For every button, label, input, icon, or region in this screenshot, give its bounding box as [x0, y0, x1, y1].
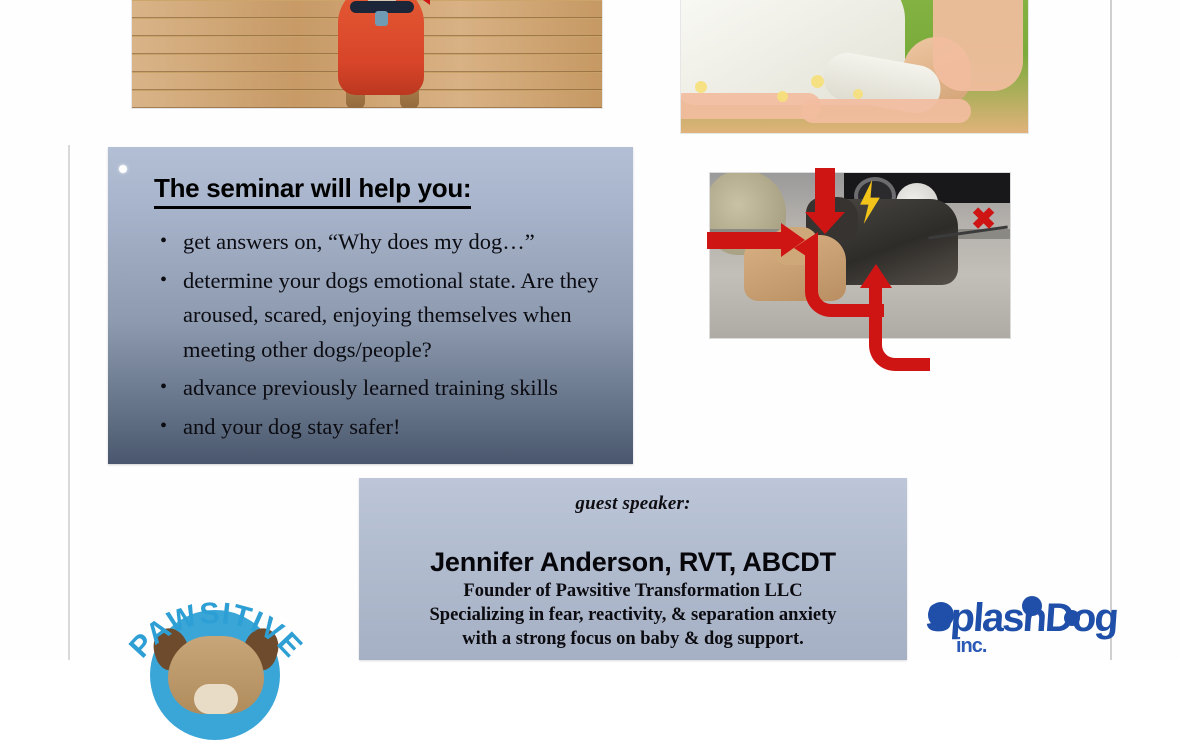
seminar-benefits-box: The seminar will help you: get answers o… [108, 147, 633, 464]
slide-canvas: ✖ The seminar will help you: get answers… [0, 0, 1180, 660]
red-arrow-down-icon [815, 168, 835, 212]
speaker-credential-line-2: Specializing in fear, reactivity, & sepa… [359, 604, 907, 626]
red-x-icon: ✖ [971, 208, 997, 234]
baby-photo [680, 0, 1029, 134]
list-item: determine your dogs emotional state. Are… [156, 264, 608, 368]
seminar-heading: The seminar will help you: [154, 173, 471, 209]
red-arrow-left-icon [707, 232, 781, 249]
seminar-bullet-list: get answers on, “Why does my dog…” deter… [156, 225, 608, 448]
list-item: advance previously learned training skil… [156, 371, 608, 406]
splashdog-logo: SplashDog inc. [926, 596, 1096, 706]
speaker-credential-line-1: Founder of Pawsitive Transformation LLC [359, 580, 907, 602]
dog-sweater-photo [131, 0, 603, 109]
left-margin-rule [68, 145, 70, 660]
speaker-credential-line-3: with a strong focus on baby & dog suppor… [359, 628, 907, 650]
guest-speaker-label: guest speaker: [359, 493, 907, 515]
splashdog-wordmark: SplashDog [924, 596, 1097, 641]
right-margin-rule [1110, 0, 1112, 660]
pawsitive-transformation-logo: PAWSITIVE [118, 588, 314, 716]
list-item: get answers on, “Why does my dog…” [156, 225, 608, 260]
red-curved-arrow-2-icon [869, 288, 930, 371]
guest-speaker-box: guest speaker: Jennifer Anderson, RVT, A… [359, 478, 907, 660]
bullet-dot-icon [119, 165, 127, 173]
svg-text:PAWSITIVE: PAWSITIVE [123, 597, 309, 665]
speaker-name: Jennifer Anderson, RVT, ABCDT [359, 547, 907, 578]
list-item: and your dog stay safer! [156, 410, 608, 445]
pawsitive-arc-text: PAWSITIVE [118, 588, 314, 716]
